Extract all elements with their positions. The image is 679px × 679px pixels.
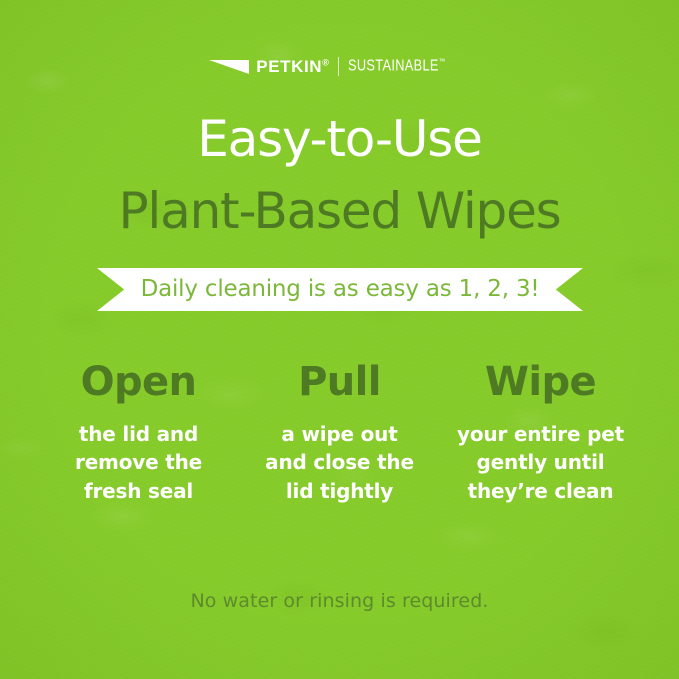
step-open-body-line-2: remove the	[38, 448, 239, 476]
step-pull-body-line-3: lid tightly	[239, 477, 440, 505]
step-open-title: Open	[38, 362, 239, 402]
headline-block: Easy-to-Use Plant-Based Wipes	[0, 110, 679, 241]
step-wipe-body: your entire pet gently until they’re cle…	[440, 420, 641, 505]
step-open: Open the lid and remove the fresh seal	[38, 362, 239, 505]
paper-texture-overlay	[0, 0, 679, 679]
brand-name: PETKIN®	[256, 58, 329, 75]
tagline-ribbon: Daily cleaning is as easy as 1, 2, 3!	[97, 268, 583, 311]
step-pull: Pull a wipe out and close the lid tightl…	[239, 362, 440, 505]
petkin-swoosh-icon	[209, 59, 249, 75]
step-wipe-title: Wipe	[440, 362, 641, 402]
step-open-body-line-3: fresh seal	[38, 477, 239, 505]
step-open-body: the lid and remove the fresh seal	[38, 420, 239, 505]
trademark-icon: ™	[439, 57, 446, 66]
brand-divider	[338, 57, 339, 76]
step-pull-body: a wipe out and close the lid tightly	[239, 420, 440, 505]
tagline-text: Daily cleaning is as easy as 1, 2, 3!	[141, 278, 540, 301]
registered-trademark-icon: ®	[322, 57, 329, 67]
headline-line-2: Plant-Based Wipes	[0, 182, 679, 241]
footer-note: No water or rinsing is required.	[0, 592, 679, 611]
steps-row: Open the lid and remove the fresh seal P…	[38, 362, 641, 505]
step-wipe: Wipe your entire pet gently until they’r…	[440, 362, 641, 505]
vignette-overlay	[0, 0, 679, 679]
brand-sub-name: SUSTAINABLE™	[348, 58, 446, 74]
brand-sub-name-text: SUSTAINABLE	[348, 58, 439, 75]
step-wipe-body-line-1: your entire pet	[440, 420, 641, 448]
step-open-body-line-1: the lid and	[38, 420, 239, 448]
paper-grain-overlay	[0, 0, 679, 679]
brand-name-text: PETKIN	[256, 57, 322, 76]
step-pull-body-line-2: and close the	[239, 448, 440, 476]
step-pull-body-line-1: a wipe out	[239, 420, 440, 448]
step-wipe-body-line-3: they’re clean	[440, 477, 641, 505]
headline-line-1: Easy-to-Use	[0, 110, 679, 169]
step-wipe-body-line-2: gently until	[440, 448, 641, 476]
brand-logo-lockup: PETKIN® SUSTAINABLE™	[0, 57, 679, 76]
step-pull-title: Pull	[239, 362, 440, 402]
product-info-poster: PETKIN® SUSTAINABLE™ Easy-to-Use Plant-B…	[0, 0, 679, 679]
